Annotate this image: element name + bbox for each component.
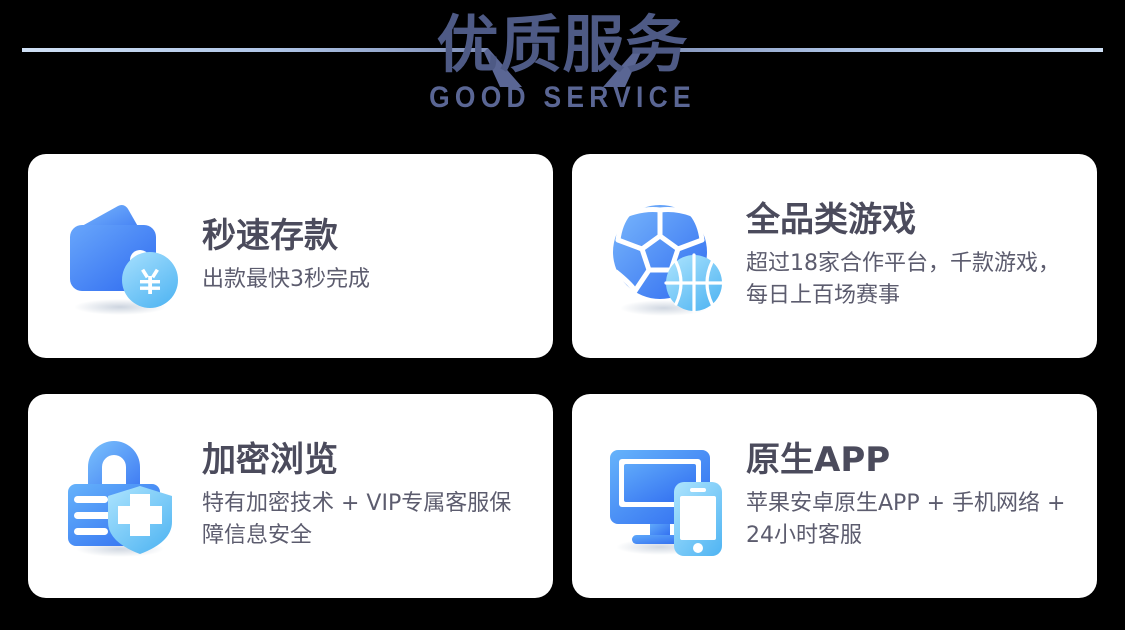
feature-card-text: 原生APP 苹果安卓原生APP + 手机网络 + 24小时客服 [746, 440, 1079, 552]
feature-card-text: 秒速存款 出款最快3秒完成 [202, 216, 535, 296]
feature-card-desc: 超过18家合作平台，千款游戏，每日上百场赛事 [746, 248, 1076, 312]
wallet-yen-icon-svg [58, 190, 190, 322]
soccer-basketball-icon-svg [602, 190, 734, 322]
feature-card-desc: 特有加密技术 + VIP专属客服保障信息安全 [202, 488, 532, 552]
monitor-phone-icon-svg [602, 430, 734, 562]
page-subtitle: GOOD SERVICE [68, 81, 1058, 115]
wallet-yen-icon [58, 190, 190, 322]
feature-card-text: 全品类游戏 超过18家合作平台，千款游戏，每日上百场赛事 [746, 200, 1079, 312]
feature-card-deposit[interactable]: 秒速存款 出款最快3秒完成 [28, 154, 553, 358]
header-title-block: 优质服务 GOOD SERVICE [0, 0, 1125, 115]
feature-card-title: 原生APP [746, 440, 1079, 481]
lock-shield-icon-svg [58, 430, 190, 562]
feature-card-games[interactable]: 全品类游戏 超过18家合作平台，千款游戏，每日上百场赛事 [572, 154, 1097, 358]
feature-card-text: 加密浏览 特有加密技术 + VIP专属客服保障信息安全 [202, 440, 535, 552]
feature-card-grid: 秒速存款 出款最快3秒完成 [28, 154, 1097, 598]
lock-shield-icon [58, 430, 190, 562]
feature-card-title: 秒速存款 [202, 216, 535, 257]
feature-card-title: 加密浏览 [202, 440, 535, 481]
feature-card-encryption[interactable]: 加密浏览 特有加密技术 + VIP专属客服保障信息安全 [28, 394, 553, 598]
monitor-phone-icon [602, 430, 734, 562]
page-title: 优质服务 [0, 0, 1125, 79]
soccer-basketball-icon [602, 190, 734, 322]
page-header: 优质服务 GOOD SERVICE [0, 0, 1125, 142]
feature-card-desc: 出款最快3秒完成 [202, 264, 535, 296]
feature-card-desc: 苹果安卓原生APP + 手机网络 + 24小时客服 [746, 488, 1076, 552]
feature-card-native-app[interactable]: 原生APP 苹果安卓原生APP + 手机网络 + 24小时客服 [572, 394, 1097, 598]
feature-card-title: 全品类游戏 [746, 200, 1079, 241]
